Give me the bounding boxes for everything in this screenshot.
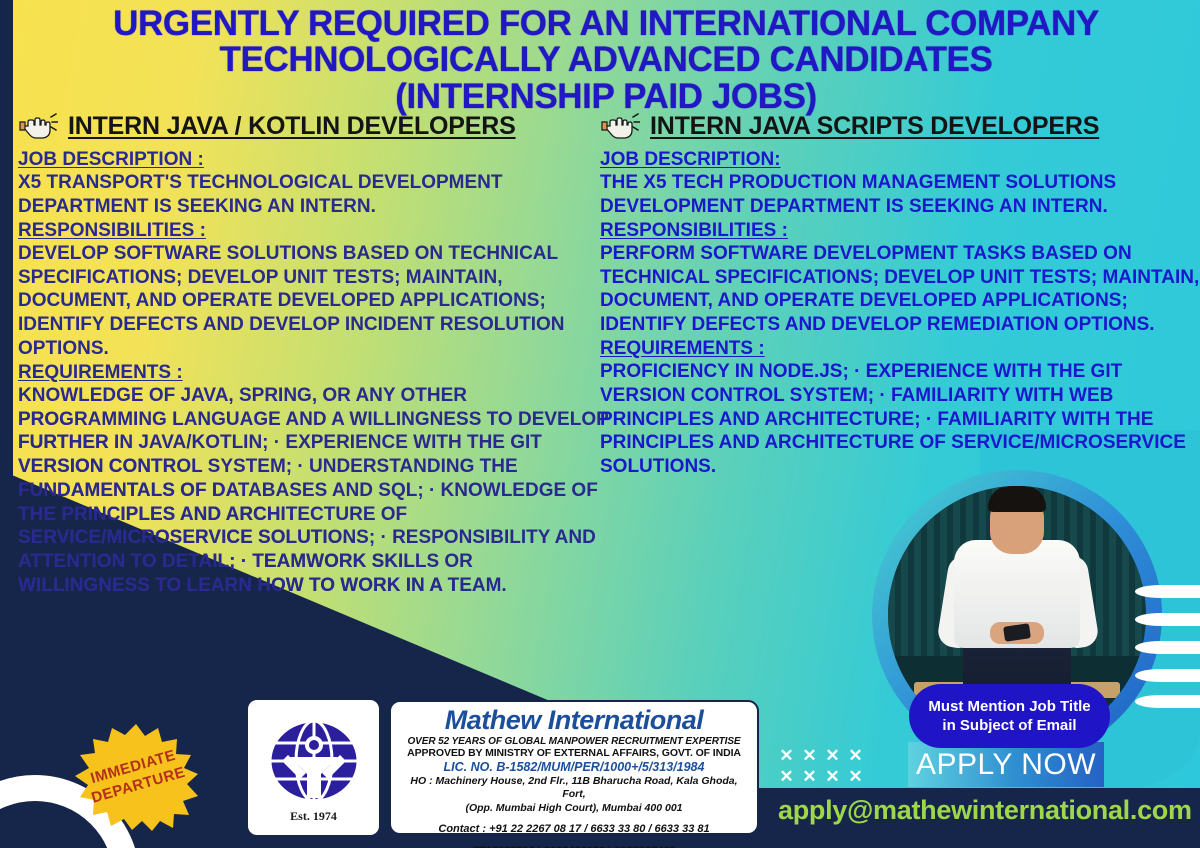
x-mark-icon: ✕ <box>825 746 839 766</box>
job-column-java-kotlin: INTERN JAVA / KOTLIN DEVELOPERS JOB DESC… <box>18 112 610 598</box>
title-line-2: TECHNOLOGICALLY ADVANCED CANDIDATES <box>12 42 1200 78</box>
wave-lines-decoration <box>1135 585 1200 710</box>
left-responsibilities-label: RESPONSIBILITIES : <box>18 219 610 242</box>
x-mark-icon: ✕ <box>848 746 862 766</box>
left-requirements-label: REQUIREMENTS : <box>18 361 610 384</box>
company-contact-card: Mathew International OVER 52 YEARS OF GL… <box>389 700 759 835</box>
company-address-line-1: HO : Machinery House, 2nd Flr., 11B Bhar… <box>399 775 749 801</box>
logo-established-text: Est. 1974 <box>290 809 337 824</box>
title-line-1: URGENTLY REQUIRED FOR AN INTERNATIONAL C… <box>12 6 1200 42</box>
left-requirements-block: REQUIREMENTS : KNOWLEDGE OF JAVA, SPRING… <box>18 361 610 598</box>
company-approval: APPROVED BY MINISTRY OF EXTERNAL AFFAIRS… <box>399 747 749 759</box>
page-title: URGENTLY REQUIRED FOR AN INTERNATIONAL C… <box>12 6 1200 115</box>
company-license: LIC. NO. B-1582/MUM/PER/1000+/5/313/1984 <box>399 760 749 774</box>
left-requirements-text: KNOWLEDGE OF JAVA, SPRING, OR ANY OTHER … <box>18 384 610 598</box>
must-mention-line-2: in Subject of Email <box>942 716 1076 736</box>
x-marks-decoration: ✕ ✕ ✕ ✕ ✕ ✕ ✕ ✕ <box>775 745 867 787</box>
pointing-hand-icon <box>18 113 58 141</box>
navy-left-border <box>0 0 13 848</box>
x-mark-icon: ✕ <box>802 746 816 766</box>
right-job-description-label: JOB DESCRIPTION: <box>600 148 1200 171</box>
right-requirements-label: REQUIREMENTS : <box>600 337 1200 360</box>
globe-figure-emblem-icon <box>266 715 362 807</box>
company-contact-line-2: 7715058530 | 8108420103 | 9987337409 <box>399 844 749 848</box>
company-tagline: OVER 52 YEARS OF GLOBAL MANPOWER RECRUIT… <box>399 736 749 747</box>
company-name: Mathew International <box>399 707 749 734</box>
x-mark-icon: ✕ <box>802 767 816 787</box>
apply-email-address[interactable]: apply@mathewinternational.com <box>778 795 1198 826</box>
must-mention-line-1: Must Mention Job Title <box>928 697 1090 717</box>
company-contact-line-1: Contact : +91 22 2267 08 17 / 6633 33 80… <box>399 822 749 836</box>
immediate-departure-badge: IMMEDIATE DEPARTURE <box>63 722 209 832</box>
apply-now-button[interactable]: APPLY NOW <box>908 742 1104 787</box>
recruitment-poster: URGENTLY REQUIRED FOR AN INTERNATIONAL C… <box>0 0 1200 848</box>
left-job-description-label: JOB DESCRIPTION : <box>18 148 610 171</box>
left-job-heading: INTERN JAVA / KOTLIN DEVELOPERS <box>68 112 516 141</box>
x-mark-icon: ✕ <box>779 767 793 787</box>
x-mark-icon: ✕ <box>848 767 862 787</box>
right-requirements-text: PROFICIENCY IN NODE.JS; · EXPERIENCE WIT… <box>600 360 1200 479</box>
job-column-javascript: INTERN JAVA SCRIPTS DEVELOPERS JOB DESCR… <box>600 112 1200 479</box>
right-responsibilities-label: RESPONSIBILITIES : <box>600 219 1200 242</box>
right-column-header: INTERN JAVA SCRIPTS DEVELOPERS <box>600 112 1200 141</box>
pointing-hand-icon <box>600 113 640 141</box>
must-mention-job-title-note: Must Mention Job Title in Subject of Ema… <box>909 684 1110 748</box>
x-mark-icon: ✕ <box>825 767 839 787</box>
company-logo-card: Est. 1974 <box>248 700 379 835</box>
right-responsibilities-text: PERFORM SOFTWARE DEVELOPMENT TASKS BASED… <box>600 242 1200 337</box>
title-line-3: (INTERNSHIP PAID JOBS) <box>12 79 1200 115</box>
right-job-heading: INTERN JAVA SCRIPTS DEVELOPERS <box>650 112 1099 141</box>
left-responsibilities-text: DEVELOP SOFTWARE SOLUTIONS BASED ON TECH… <box>18 242 610 361</box>
right-job-description-text: THE X5 TECH PRODUCTION MANAGEMENT SOLUTI… <box>600 171 1200 219</box>
apply-now-label: APPLY NOW <box>916 748 1096 782</box>
x-mark-icon: ✕ <box>779 746 793 766</box>
left-job-description-text: X5 TRANSPORT'S TECHNOLOGICAL DEVELOPMENT… <box>18 171 610 219</box>
left-column-header: INTERN JAVA / KOTLIN DEVELOPERS <box>18 112 610 141</box>
company-address-line-2: (Opp. Mumbai High Court), Mumbai 400 001 <box>399 802 749 815</box>
